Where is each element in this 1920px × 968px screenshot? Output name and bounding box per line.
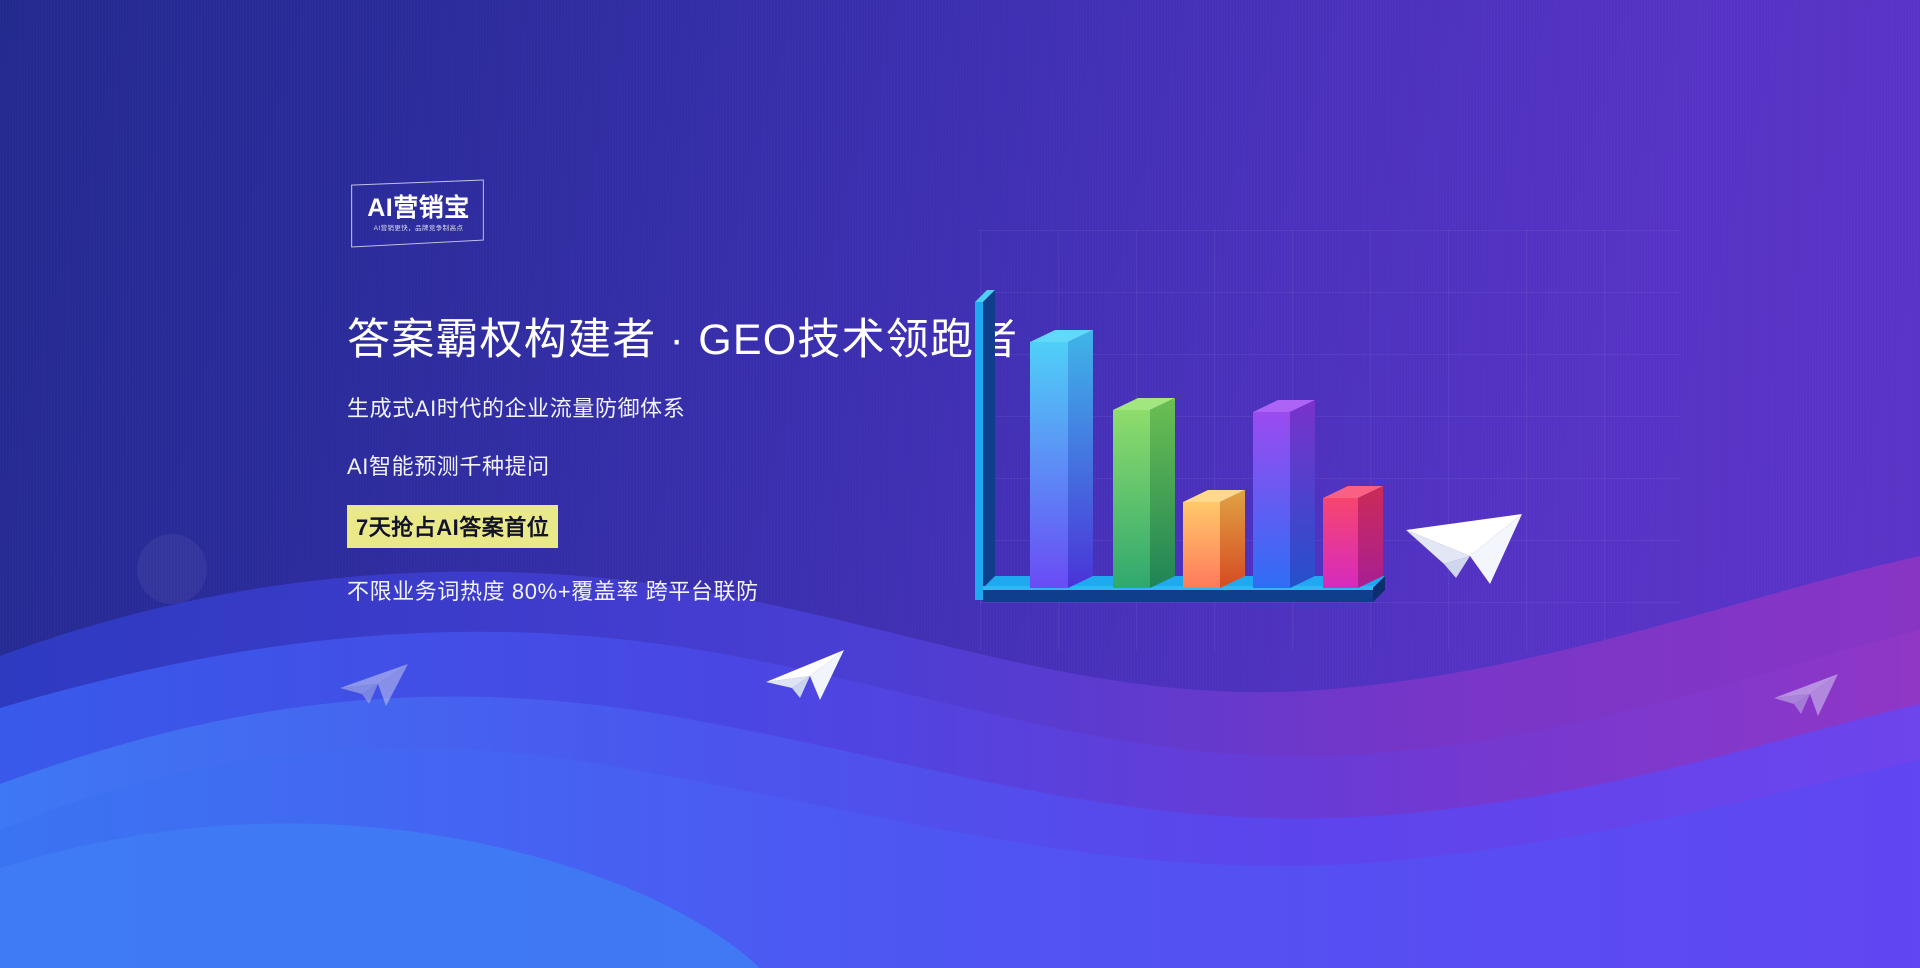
brand-logo[interactable]: AI营销宝 AI营销更快，品牌竞争制高点 [352, 182, 485, 244]
decorative-glow-circle [1470, 938, 1660, 968]
logo-slogan: AI营销更快，品牌竞争制高点 [374, 226, 464, 233]
subtitle-line-4: 不限业务词热度 80%+覆盖率 跨平台联防 [347, 574, 1067, 606]
background-grid-corner [1290, 838, 1550, 968]
hero-copy: 答案霸权构建者 · GEO技术领跑者 生成式AI时代的企业流量防御体系 AI智能… [347, 316, 1067, 606]
chart-bar-2 [1113, 398, 1175, 588]
chart-bar-1 [1030, 330, 1093, 588]
logo-text: AI营销宝 [367, 196, 470, 221]
paper-plane-icon [1772, 672, 1842, 727]
paper-plane-icon [338, 660, 412, 717]
hero-banner: AI营销宝 AI营销更快，品牌竞争制高点 答案霸权构建者 · GEO技术领跑者 … [0, 0, 1920, 968]
highlight-badge: 7天抢占AI答案首位 [347, 505, 558, 548]
subtitle-line-1: 生成式AI时代的企业流量防御体系 [347, 391, 1067, 423]
page-title: 答案霸权构建者 · GEO技术领跑者 [347, 316, 1067, 365]
decorative-circle [137, 534, 207, 604]
highlight-row: 7天抢占AI答案首位 [347, 505, 1067, 548]
chart-bar-3 [1183, 490, 1245, 588]
subtitle-line-2: AI智能预测千种提问 [347, 449, 1067, 481]
chart-bar-4 [1253, 400, 1315, 588]
paper-plane-icon [764, 648, 848, 711]
chart-bar-5 [1323, 486, 1383, 588]
chart-y-axis [975, 290, 995, 600]
bar-chart-illustration [975, 290, 1475, 660]
